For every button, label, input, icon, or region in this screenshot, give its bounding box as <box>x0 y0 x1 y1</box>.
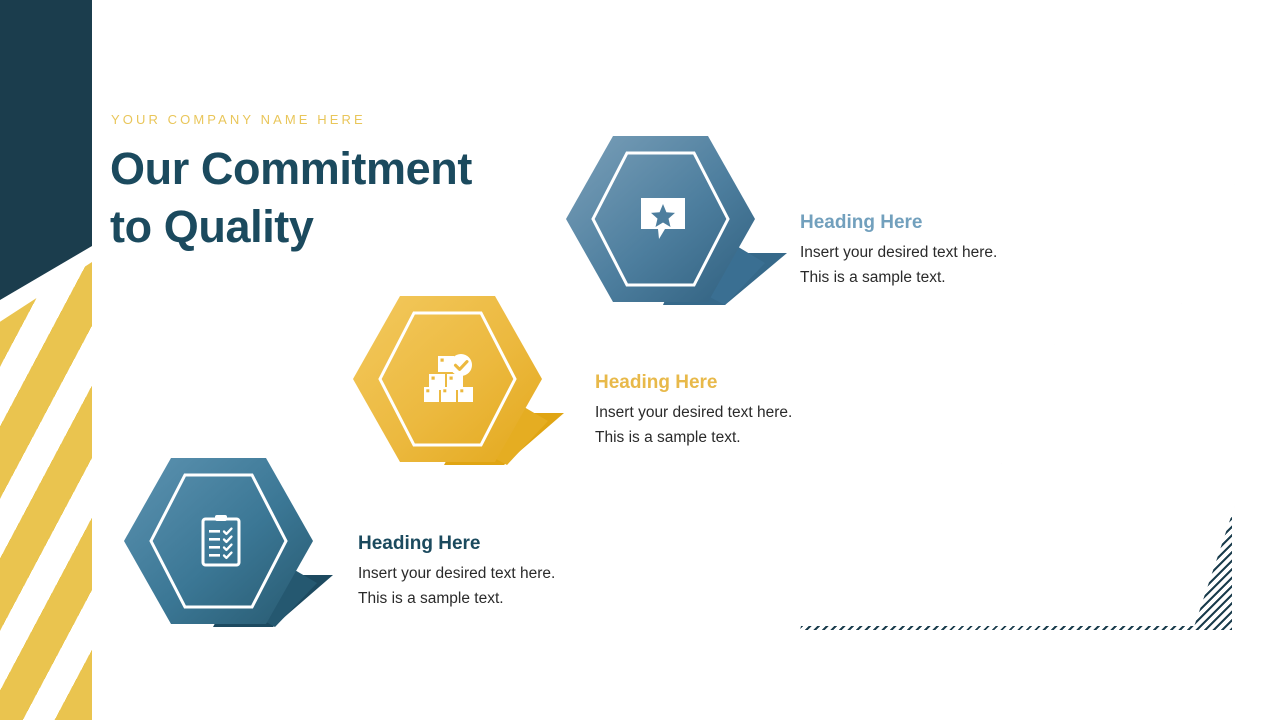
content-card-3-inner: Heading Here Insert your desired text he… <box>330 505 1235 626</box>
page-title: Our Commitment to Quality <box>110 140 580 255</box>
boxes-check-icon <box>339 293 561 465</box>
content-card-3[interactable]: Heading Here Insert your desired text he… <box>330 505 1235 626</box>
content-card-1[interactable]: Heading Here Insert your desired text he… <box>745 183 1235 304</box>
content-card-2-body: Insert your desired text here. This is a… <box>595 400 792 450</box>
content-card-2[interactable]: Heading Here Insert your desired text he… <box>565 343 1055 464</box>
content-card-1-heading: Heading Here <box>800 212 922 234</box>
content-card-2-inner: Heading Here Insert your desired text he… <box>565 343 1055 464</box>
hexagon-icon-2[interactable] <box>352 293 574 465</box>
hexagon-icon-3[interactable] <box>123 455 345 627</box>
content-card-2-heading: Heading Here <box>595 372 717 394</box>
content-card-1-inner: Heading Here Insert your desired text he… <box>745 183 1235 304</box>
company-name-eyebrow: YOUR COMPANY NAME HERE <box>111 112 366 127</box>
slide-canvas: YOUR COMPANY NAME HERE Our Commitment to… <box>0 0 1280 720</box>
clipboard-checklist-icon <box>110 455 332 627</box>
page-title-line-1: Our Commitment <box>110 140 580 198</box>
content-card-1-body: Insert your desired text here. This is a… <box>800 240 997 290</box>
page-title-line-2: to Quality <box>110 198 580 256</box>
rail-dark-block <box>0 0 92 300</box>
rail-yellow-stripes <box>0 262 92 720</box>
left-accent-rail <box>0 0 92 720</box>
content-card-3-body: Insert your desired text here. This is a… <box>358 561 555 611</box>
hexagon-icon-1[interactable] <box>565 133 787 305</box>
speech-bubble-star-icon <box>552 133 774 305</box>
content-card-3-heading: Heading Here <box>358 533 480 555</box>
